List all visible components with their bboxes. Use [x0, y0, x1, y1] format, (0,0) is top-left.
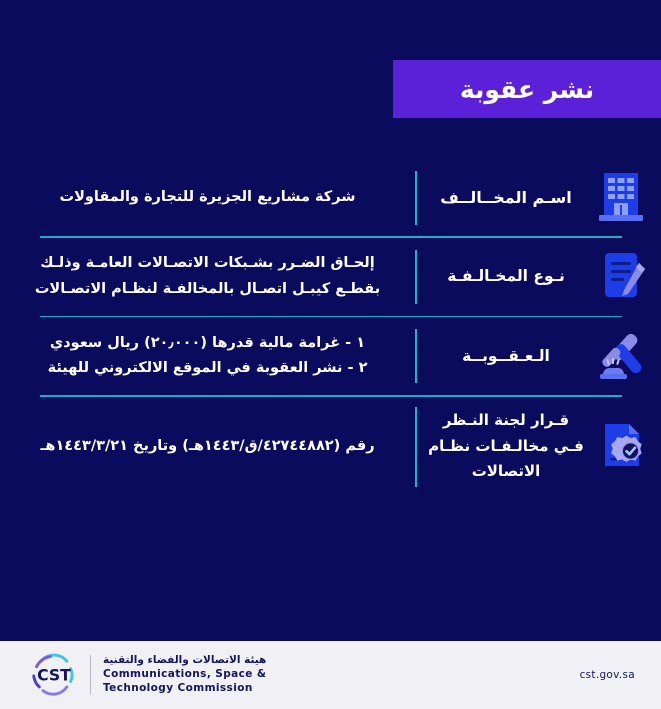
- footer: CST هيئة الاتصالات والفضاء والتقنية Comm…: [0, 641, 661, 709]
- footer-org-english-line1: Communications, Space &: [103, 668, 266, 682]
- row-accent-divider: [415, 250, 417, 304]
- violator-name-value: شركة مشاريع الجزيرة للتجارة والمقاولات: [60, 185, 356, 210]
- gavel-icon: [591, 325, 651, 387]
- row-value-cell: ١ - غرامة مالية قدرها (٢٠٫٠٠٠) ريال سعود…: [0, 331, 393, 382]
- detail-rows: اسـم المخــالــف شركة مشاريع الجزيرة للت…: [0, 160, 661, 497]
- cst-logo-text: CST: [37, 666, 71, 685]
- document-pencil-icon: [591, 246, 651, 308]
- row-accent-divider: [415, 171, 417, 225]
- row-label-cell: قـرار لجنة النـظر فـي مخالـفـات نظـام ال…: [393, 407, 661, 487]
- penalty-value: ١ - غرامة مالية قدرها (٢٠٫٠٠٠) ريال سعود…: [48, 331, 368, 382]
- table-row-penalty: الـعـقــوبــة ١ - غرامة مالية قدرها (٢٠٫…: [0, 317, 661, 395]
- footer-website-url[interactable]: cst.gov.sa: [580, 669, 635, 681]
- violation-type-value: إلحـاق الضـرر بشـبكات الاتصـالات العامـة…: [30, 251, 385, 302]
- page-title: نشر عقوبة: [460, 75, 594, 104]
- row-accent-divider: [415, 407, 417, 487]
- penalty-publication-card: نشر عقوبة: [0, 0, 661, 709]
- row-value-cell: إلحـاق الضـرر بشـبكات الاتصـالات العامـة…: [0, 251, 393, 302]
- row-label-cell: نـوع المخـالـفـة: [393, 246, 661, 308]
- building-icon: [591, 167, 651, 229]
- row-label: الـعـقــوبــة: [421, 344, 591, 368]
- row-value-cell: رقم (٤٢٧٤٤٨٨٢/ق/١٤٤٣هـ) وتاريخ ١٤٤٣/٣/٢١…: [0, 434, 393, 459]
- cst-logo-icon: CST: [26, 652, 82, 698]
- table-row-violation-type: نـوع المخـالـفـة إلحـاق الضـرر بشـبكات ا…: [0, 238, 661, 316]
- table-row-violator-name: اسـم المخــالــف شركة مشاريع الجزيرة للت…: [0, 160, 661, 236]
- footer-logo: CST هيئة الاتصالات والفضاء والتقنية Comm…: [26, 652, 266, 698]
- header-banner: نشر عقوبة: [393, 60, 661, 118]
- row-label: قـرار لجنة النـظر فـي مخالـفـات نظـام ال…: [421, 408, 591, 485]
- row-accent-divider: [415, 329, 417, 383]
- row-label-cell: الـعـقــوبــة: [393, 325, 661, 387]
- header-banner-row: نشر عقوبة: [0, 60, 661, 118]
- footer-org-arabic: هيئة الاتصالات والفضاء والتقنية: [103, 654, 266, 668]
- row-value-cell: شركة مشاريع الجزيرة للتجارة والمقاولات: [0, 185, 393, 210]
- row-label: اسـم المخــالــف: [421, 186, 591, 211]
- row-label: نـوع المخـالـفـة: [421, 264, 591, 288]
- row-label-cell: اسـم المخــالــف: [393, 167, 661, 229]
- table-row-committee-decision: قـرار لجنة النـظر فـي مخالـفـات نظـام ال…: [0, 397, 661, 497]
- document-check-icon: [591, 408, 651, 486]
- decision-number-value: رقم (٤٢٧٤٤٨٨٢/ق/١٤٤٣هـ) وتاريخ ١٤٤٣/٣/٢١…: [40, 434, 374, 459]
- footer-divider: [90, 655, 91, 695]
- footer-org-text: هيئة الاتصالات والفضاء والتقنية Communic…: [103, 654, 266, 696]
- footer-org-english-line2: Technology Commission: [103, 682, 266, 696]
